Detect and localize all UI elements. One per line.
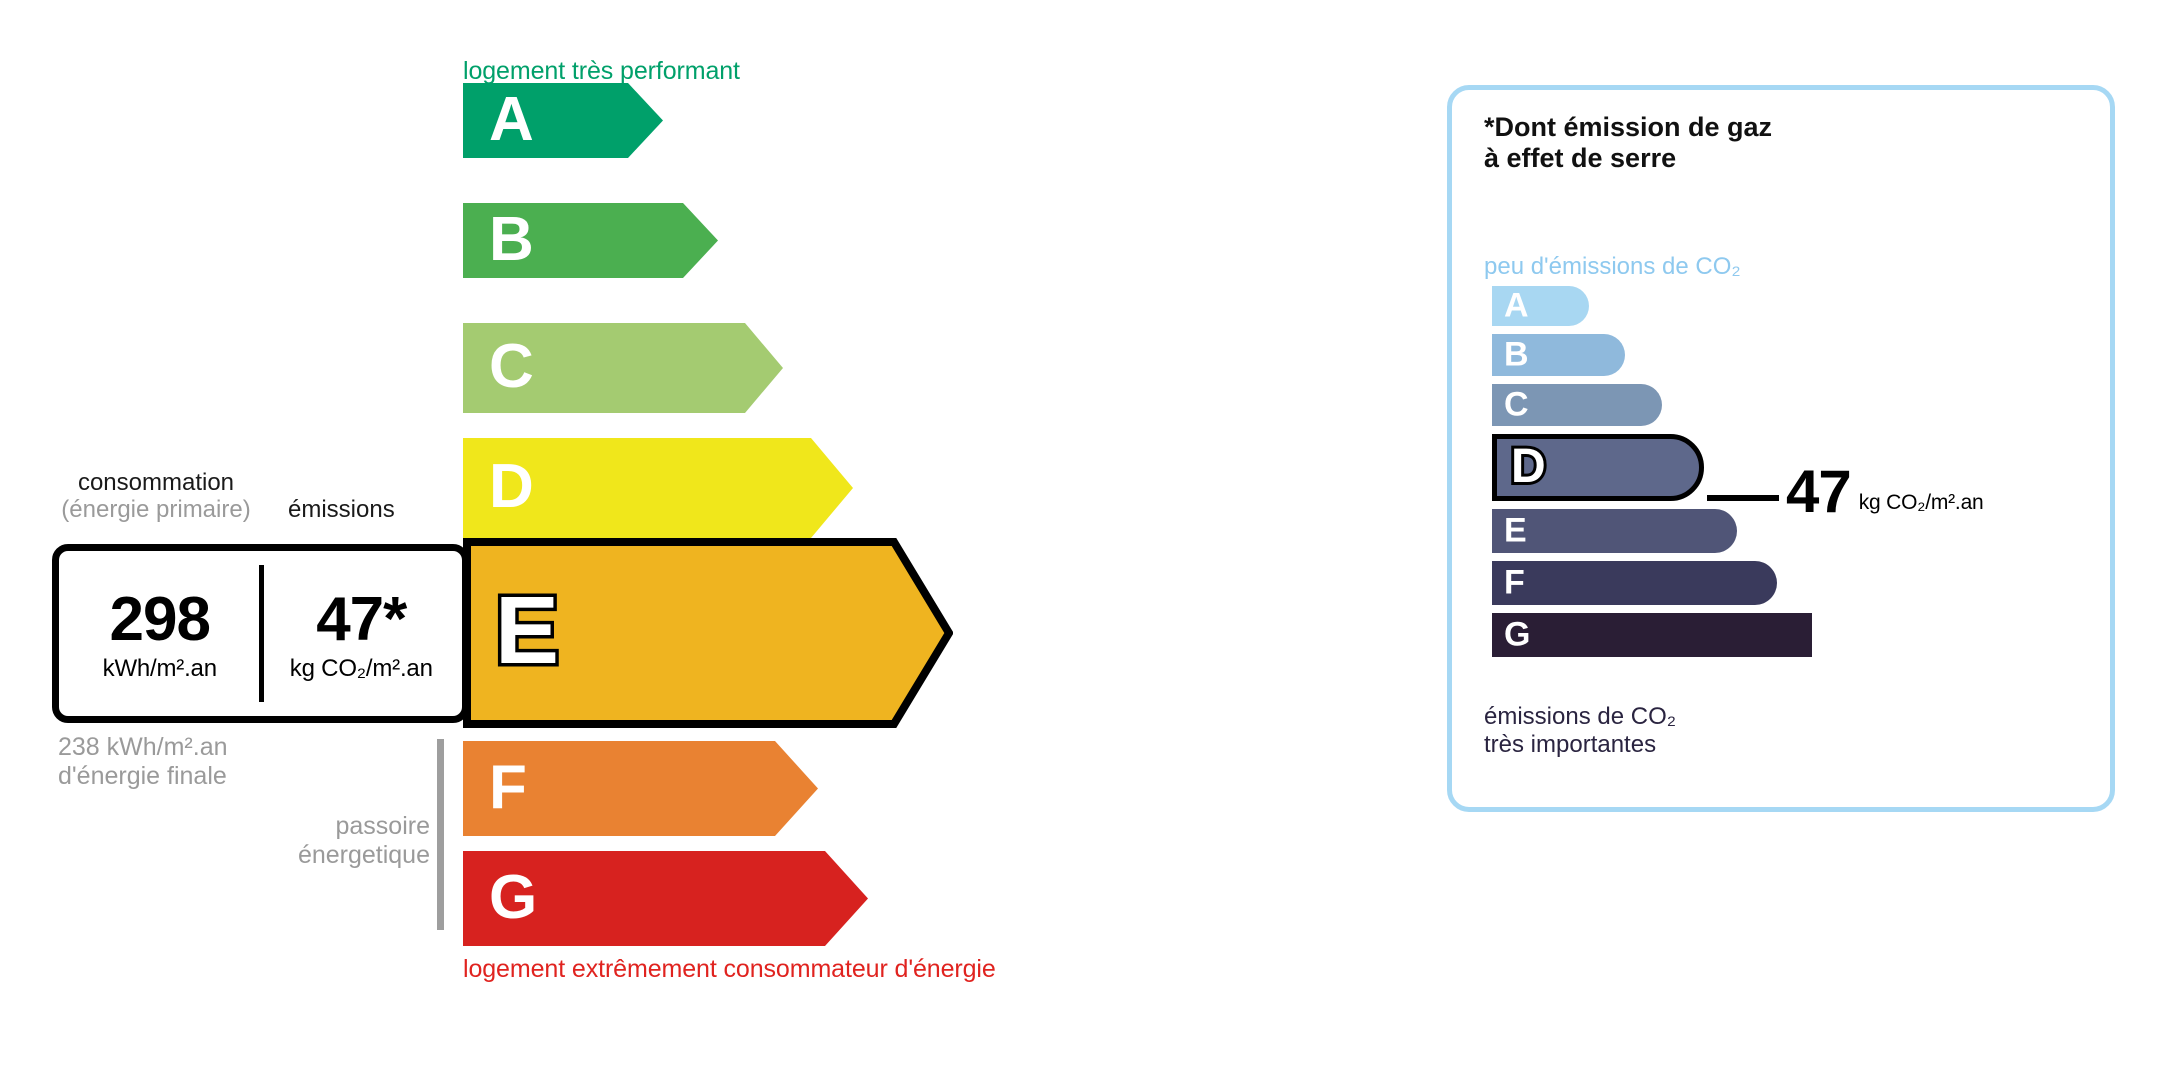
co2-bottom-caption-line2: très importantes (1484, 731, 1676, 759)
final-energy-note: 238 kWh/m².an d'énergie finale (58, 733, 228, 791)
co2-bar-b: B (1492, 334, 1625, 376)
primary-energy-value: 298 (110, 590, 210, 651)
final-energy-line1: 238 kWh/m².an (58, 733, 228, 762)
primary-energy-readout: 298 kWh/m².an (59, 551, 261, 716)
energy-grade-row-e-selected[interactable]: E (463, 538, 953, 728)
co2-grade-row-f[interactable]: F (1492, 561, 1777, 605)
co2-readout-unit: kg CO₂/m².an (1859, 491, 1984, 515)
co2-readout-value: 47 (1786, 462, 1851, 522)
co2-grade-letter-c: C (1504, 387, 1529, 421)
emissions-label: émissions (288, 496, 395, 524)
co2-grade-letter-e: E (1504, 513, 1527, 547)
co2-grade-letter-a: A (1504, 288, 1529, 322)
value-readout-box: 298 kWh/m².an 47* kg CO₂/m².an (52, 544, 469, 723)
co2-emissions-panel: *Dont émission de gaz à effet de serre p… (1447, 85, 2115, 812)
energy-grade-letter-f: F (489, 756, 527, 818)
energy-grade-row-a[interactable]: A (463, 83, 663, 158)
energy-performance-panel: logement très performant A B (0, 0, 1400, 1079)
co2-readout: 47 kg CO₂/m².an (1786, 462, 1984, 522)
co2-bar-e: E (1492, 509, 1737, 553)
energy-grade-row-f[interactable]: F (463, 741, 818, 836)
energy-grade-row-g[interactable]: G (463, 851, 868, 946)
co2-grade-letter-d: D (1511, 443, 1546, 491)
co2-grade-letter-g: G (1504, 617, 1530, 651)
energy-grade-row-b[interactable]: B (463, 203, 718, 278)
consumption-label: consommation (énergie primaire) (52, 470, 260, 524)
co2-bar-d: D (1492, 434, 1704, 501)
dpe-diagram: logement très performant A B (0, 0, 2169, 1079)
value-box-divider (259, 565, 264, 702)
co2-panel-title: *Dont émission de gaz à effet de serre (1484, 112, 1772, 174)
co2-title-line1: *Dont émission de gaz (1484, 112, 1772, 143)
co2-bottom-caption: émissions de CO₂ très importantes (1484, 703, 1676, 759)
co2-top-caption: peu d'émissions de CO₂ (1484, 253, 1741, 281)
energy-grade-row-d[interactable]: D (463, 438, 853, 538)
energy-grade-letter-g: G (489, 866, 537, 928)
co2-grade-letter-f: F (1504, 565, 1525, 599)
final-energy-line2: d'énergie finale (58, 762, 228, 791)
co2-grade-row-b[interactable]: B (1492, 334, 1625, 376)
co2-bar-g: G (1492, 613, 1812, 657)
energy-bottom-caption: logement extrêmement consommateur d'éner… (463, 955, 996, 984)
energy-grade-letter-e: E (495, 583, 559, 679)
consumption-label-main: consommation (52, 470, 260, 497)
energy-grade-letter-d: D (489, 456, 534, 518)
energy-grade-letter-b: B (489, 208, 534, 270)
co2-grade-row-d-selected[interactable]: D (1492, 434, 1704, 501)
energy-grade-letter-a: A (489, 88, 534, 150)
primary-energy-unit: kWh/m².an (103, 655, 217, 683)
co2-emissions-unit: kg CO₂/m².an (290, 655, 433, 683)
passoire-bracket-line (437, 739, 444, 930)
co2-grade-row-e[interactable]: E (1492, 509, 1737, 553)
co2-bar-f: F (1492, 561, 1777, 605)
passoire-line2: énergetique (250, 841, 430, 870)
co2-emissions-value: 47* (316, 590, 406, 651)
co2-grade-letter-b: B (1504, 337, 1529, 371)
co2-grade-row-c[interactable]: C (1492, 384, 1662, 426)
energy-grade-row-c[interactable]: C (463, 323, 783, 413)
passoire-energetique-label: passoire énergetique (250, 812, 430, 870)
co2-pointer-line (1707, 495, 1779, 501)
co2-title-line2: à effet de serre (1484, 143, 1772, 174)
consumption-label-sub: (énergie primaire) (52, 497, 260, 524)
passoire-line1: passoire (250, 812, 430, 841)
co2-grade-row-a[interactable]: A (1492, 286, 1589, 326)
co2-bottom-caption-line1: émissions de CO₂ (1484, 703, 1676, 731)
co2-grade-row-g[interactable]: G (1492, 613, 1812, 657)
co2-bar-a: A (1492, 286, 1589, 326)
co2-emissions-readout: 47* kg CO₂/m².an (261, 551, 463, 716)
energy-grade-scale: A B C D (0, 0, 1400, 1079)
energy-grade-letter-c: C (489, 336, 534, 398)
co2-bar-c: C (1492, 384, 1662, 426)
